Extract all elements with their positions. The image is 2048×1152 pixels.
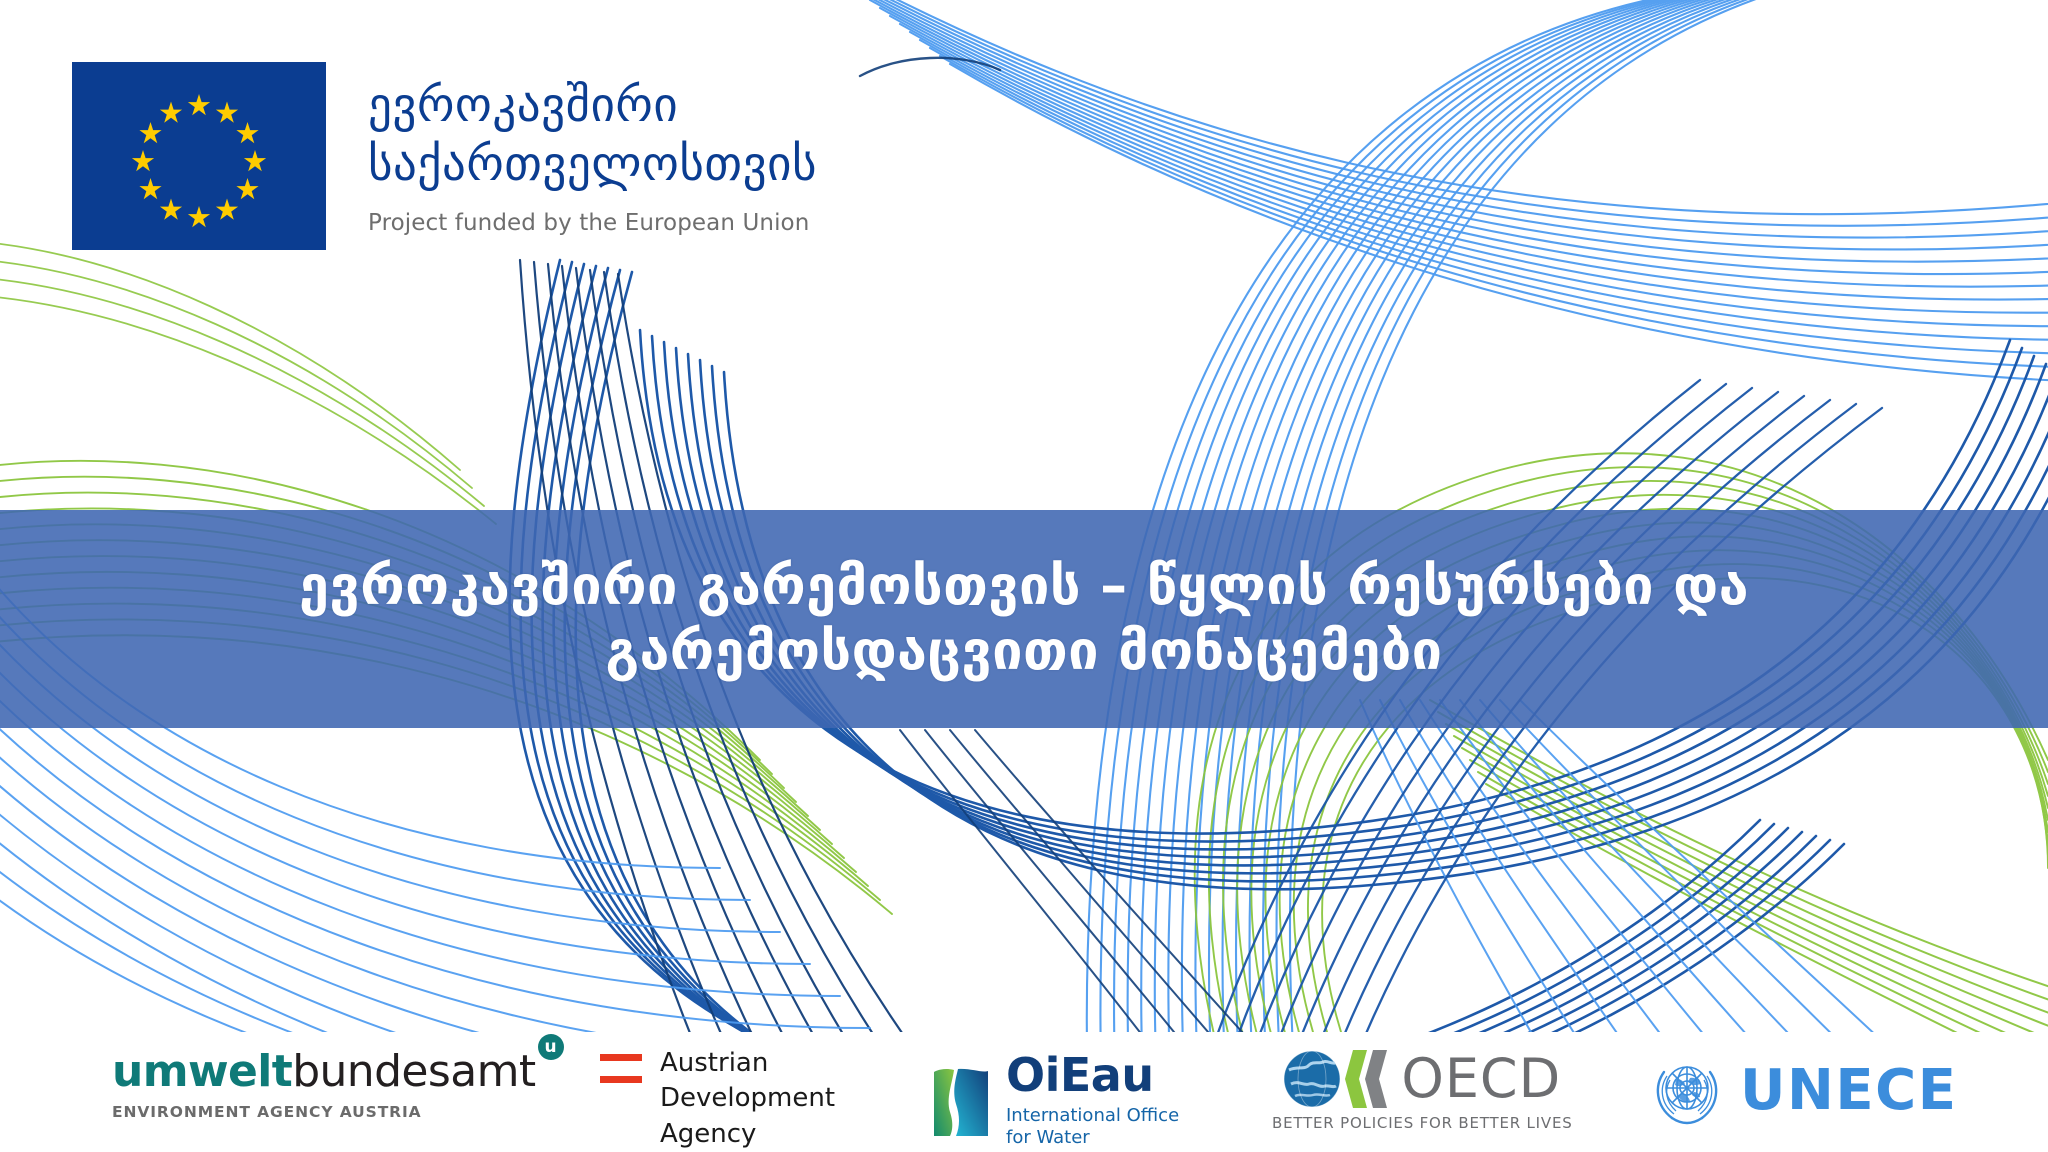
oieau-wordmark: OiEau International Office for Water: [1006, 1052, 1179, 1150]
ada-wordmark: Austrian Development Agency: [660, 1046, 835, 1152]
eu-funding-note: Project funded by the European Union: [368, 210, 817, 236]
oieau-subtitle-line-1: International Office: [1006, 1105, 1179, 1127]
eu-flag-icon: [72, 62, 326, 250]
ada-line-1: Austrian: [660, 1046, 835, 1081]
oecd-chevron-icon: [1343, 1050, 1395, 1108]
umweltbundesamt-wordmark: umweltbundesamt u: [112, 1050, 536, 1094]
ada-line-3: Agency: [660, 1117, 835, 1152]
unece-name: UNECE: [1740, 1063, 1957, 1119]
oecd-tagline: BETTER POLICIES FOR BETTER LIVES: [1272, 1114, 1573, 1132]
united-nations-emblem-icon: [1650, 1054, 1724, 1128]
partner-logo-bar: umweltbundesamt u ENVIRONMENT AGENCY AUS…: [0, 1032, 2048, 1152]
oieau-name: OiEau: [1006, 1052, 1179, 1098]
oieau-subtitle-line-2: for Water: [1006, 1127, 1179, 1149]
eu-logo-line-2: საქართველოსთვის: [368, 135, 817, 194]
logo-oieau: OiEau International Office for Water: [930, 1052, 1179, 1150]
umweltbundesamt-superscript-icon: u: [538, 1034, 564, 1060]
title-banner: ევროკავშირი გარემოსთვის – წყლის რესურსებ…: [0, 510, 2048, 728]
ada-line-2: Development: [660, 1081, 835, 1116]
logo-oecd: OECD BETTER POLICIES FOR BETTER LIVES: [1272, 1050, 1573, 1132]
eu-logo-text: ევროკავშირი საქართველოსთვის Project fund…: [368, 62, 817, 236]
globe-icon: [1283, 1050, 1341, 1108]
oecd-name: OECD: [1401, 1052, 1561, 1106]
eu-logo-line-1: ევროკავშირი: [368, 76, 817, 135]
oieau-water-icon: [930, 1064, 992, 1138]
page-title: ევროკავშირი გარემოსთვის – წყლის რესურსებ…: [119, 554, 1929, 684]
logo-umweltbundesamt: umweltbundesamt u ENVIRONMENT AGENCY AUS…: [112, 1050, 536, 1121]
european-union-logo: ევროკავშირი საქართველოსთვის Project fund…: [72, 62, 817, 250]
oieau-subtitle: International Office for Water: [1006, 1105, 1179, 1150]
umweltbundesamt-name-light: bundesamt: [292, 1046, 535, 1097]
umweltbundesamt-name-bold: umwelt: [112, 1046, 292, 1097]
presentation-slide: ევროკავშირი საქართველოსთვის Project fund…: [0, 0, 2048, 1152]
oecd-row: OECD: [1283, 1050, 1561, 1108]
logo-austrian-development-agency: Austrian Development Agency: [600, 1046, 835, 1152]
austria-flag-icon: [600, 1054, 642, 1087]
logo-unece: UNECE: [1650, 1054, 1957, 1128]
umweltbundesamt-tagline: ENVIRONMENT AGENCY AUSTRIA: [112, 1103, 422, 1121]
